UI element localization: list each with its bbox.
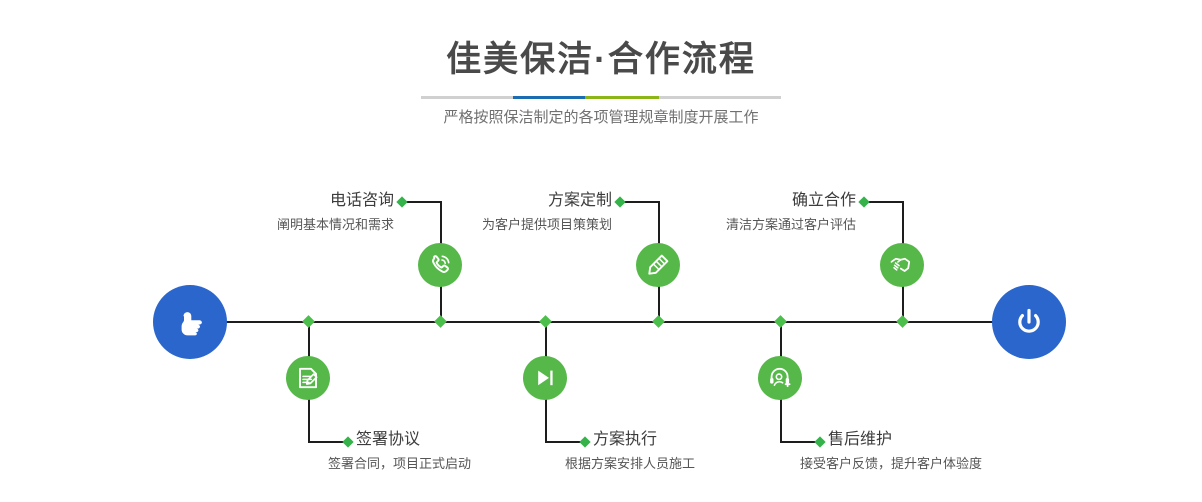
title-divider — [421, 96, 781, 99]
step-label-top-1: 电话咨询 — [218, 191, 394, 211]
axis-diamond-1 — [302, 315, 315, 328]
step-icon-plan-customize[interactable] — [636, 243, 680, 287]
step-icon-sign-agreement[interactable] — [286, 356, 330, 400]
step-icon-after-sales[interactable] — [758, 356, 802, 400]
step-label-bottom-3: 售后维护 — [828, 430, 1068, 450]
step-desc-top-1: 阐明基本情况和需求 — [178, 216, 394, 234]
step-desc-bottom-1: 签署合同，项目正式启动 — [328, 455, 588, 473]
customer-service-icon — [767, 365, 793, 391]
axis-diamond-4 — [652, 315, 665, 328]
connector-top-1-diamond — [396, 196, 407, 207]
handshake-icon — [889, 252, 915, 278]
phone-call-icon — [427, 252, 453, 278]
timeline-start-node — [153, 285, 227, 359]
divider-blue-segment — [513, 96, 585, 99]
page-title: 佳美保洁·合作流程 — [0, 38, 1202, 82]
step-icon-phone-consult[interactable] — [418, 243, 462, 287]
divider-green-segment — [585, 96, 659, 99]
axis-diamond-5 — [774, 315, 787, 328]
step-icon-establish-cooperation[interactable] — [880, 243, 924, 287]
connector-bottom-1-diamond — [342, 436, 353, 447]
step-icon-plan-execution[interactable] — [523, 356, 567, 400]
step-desc-bottom-3: 接受客户反馈，提升客户体验度 — [800, 455, 1100, 473]
document-edit-icon — [295, 365, 321, 391]
connector-bottom-2-diamond — [579, 436, 590, 447]
pencil-ruler-icon — [645, 252, 671, 278]
connector-top-1-horizontal — [402, 201, 442, 203]
axis-diamond-3 — [539, 315, 552, 328]
connector-bottom-3-diamond — [814, 436, 825, 447]
power-icon — [1010, 303, 1048, 341]
play-execute-icon — [532, 365, 558, 391]
axis-diamond-6 — [896, 315, 909, 328]
pointing-hand-icon — [171, 303, 209, 341]
timeline-end-node — [992, 285, 1066, 359]
page-subtitle: 严格按照保洁制定的各项管理规章制度开展工作 — [0, 106, 1202, 130]
connector-top-2-horizontal — [620, 201, 660, 203]
step-desc-top-2: 为客户提供项目策策划 — [396, 216, 612, 234]
axis-diamond-2 — [434, 315, 447, 328]
connector-top-3-diamond — [858, 196, 869, 207]
step-label-top-3: 确立合作 — [680, 191, 856, 211]
step-desc-bottom-2: 根据方案安排人员施工 — [565, 455, 825, 473]
connector-top-3-horizontal — [864, 201, 904, 203]
step-desc-top-3: 清洁方案通过客户评估 — [640, 216, 856, 234]
flow-diagram-page: 佳美保洁·合作流程 严格按照保洁制定的各项管理规章制度开展工作 — [0, 0, 1202, 502]
step-label-top-2: 方案定制 — [436, 191, 612, 211]
connector-top-2-diamond — [614, 196, 625, 207]
step-label-bottom-1: 签署协议 — [356, 430, 576, 450]
